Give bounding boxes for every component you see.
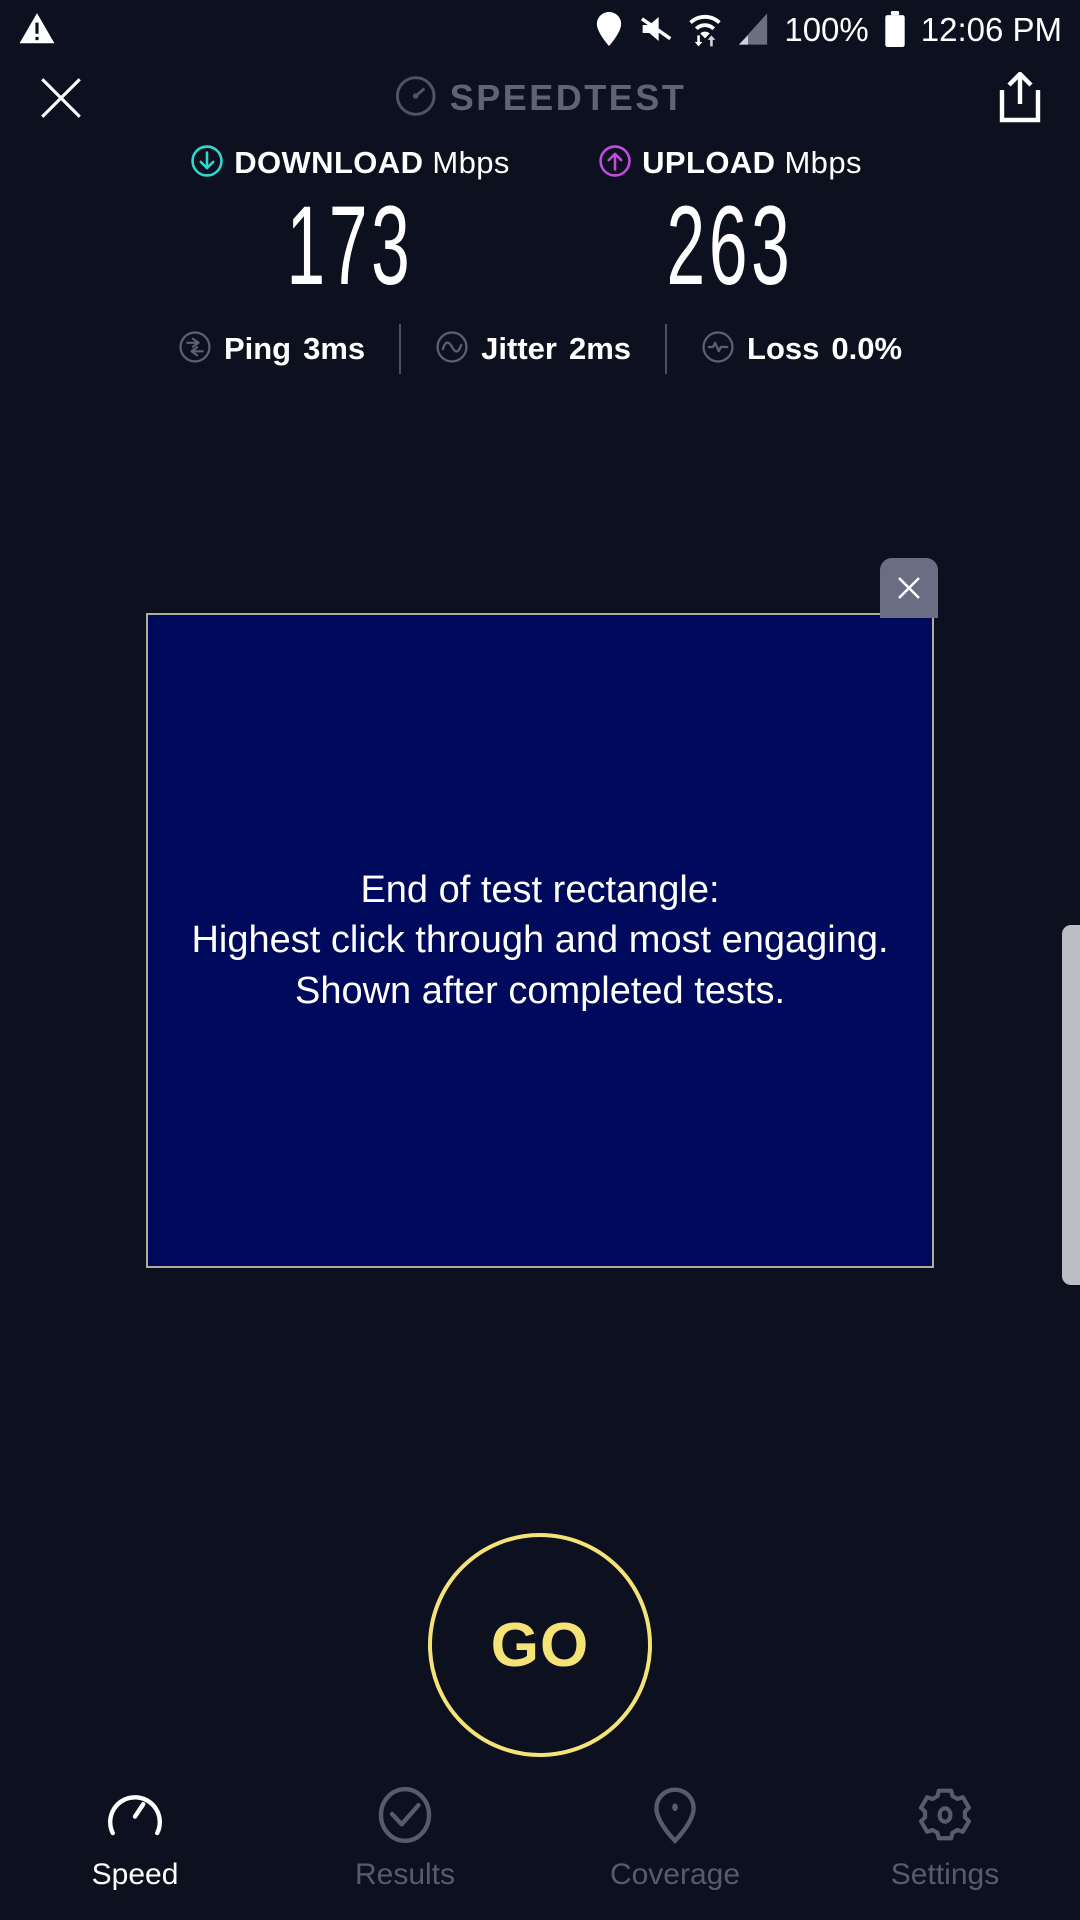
loss-value: 0.0% (831, 331, 902, 367)
app-header: SPEEDTEST (0, 58, 1080, 138)
upload-label-line: UPLOAD Mbps (540, 142, 920, 184)
status-bar-left (18, 10, 56, 48)
nav-item-results[interactable]: Results (270, 1784, 540, 1892)
ad-text: End of test rectangle: Highest click thr… (191, 865, 888, 1015)
location-pin-icon (644, 1784, 706, 1846)
gear-icon (914, 1784, 976, 1846)
upload-label: UPLOAD Mbps (642, 145, 862, 181)
share-button[interactable] (996, 72, 1044, 124)
speedtest-app-screen: 100% 12:06 PM SP (0, 0, 1080, 1920)
upload-arrow-icon (598, 144, 632, 183)
brand-title: SPEEDTEST (450, 77, 687, 119)
volume-mute-icon (638, 13, 674, 45)
speedometer-icon (104, 1784, 166, 1846)
close-icon (894, 573, 924, 603)
nav-label-settings: Settings (891, 1858, 999, 1892)
page-scrollbar[interactable] (1062, 925, 1080, 1285)
jitter-metric: Jitter 2ms (401, 330, 665, 369)
ping-icon (178, 330, 212, 369)
download-label-line: DOWNLOAD Mbps (160, 142, 540, 184)
nav-item-speed[interactable]: Speed (0, 1784, 270, 1892)
nav-label-coverage: Coverage (610, 1858, 740, 1892)
ad-banner[interactable]: End of test rectangle: Highest click thr… (146, 613, 934, 1268)
ping-value: 3ms (303, 331, 365, 367)
jitter-label: Jitter (481, 331, 557, 367)
nav-label-speed: Speed (92, 1858, 179, 1892)
loss-icon (701, 330, 735, 369)
battery-percent-label: 100% (784, 13, 868, 46)
ping-metric: Ping 3ms (144, 330, 399, 369)
bottom-navigation: Speed Results Coverage (0, 1770, 1080, 1920)
results-summary: DOWNLOAD Mbps 173 UPLOAD Mbps 263 (0, 142, 1080, 374)
ad-close-button[interactable] (880, 558, 938, 618)
speed-row: DOWNLOAD Mbps 173 UPLOAD Mbps 263 (0, 142, 1080, 302)
clock-label: 12:06 PM (921, 13, 1062, 46)
jitter-value: 2ms (569, 331, 631, 367)
nav-item-settings[interactable]: Settings (810, 1784, 1080, 1892)
battery-full-icon (883, 11, 907, 47)
ping-label: Ping (224, 331, 291, 367)
go-button[interactable]: GO (428, 1533, 652, 1757)
cellular-signal-icon (736, 13, 770, 45)
loss-label: Loss (747, 331, 819, 367)
download-value: 173 (232, 190, 468, 302)
loss-metric: Loss 0.0% (667, 330, 936, 369)
location-pin-icon (594, 12, 624, 46)
upload-result: UPLOAD Mbps 263 (540, 142, 920, 302)
nav-item-coverage[interactable]: Coverage (540, 1784, 810, 1892)
status-bar: 100% 12:06 PM (0, 0, 1080, 58)
go-button-label: GO (491, 1610, 589, 1681)
download-label: DOWNLOAD Mbps (234, 145, 510, 181)
upload-value: 263 (612, 190, 848, 302)
download-result: DOWNLOAD Mbps 173 (160, 142, 540, 302)
warning-triangle-icon (18, 10, 56, 48)
nav-label-results: Results (355, 1858, 455, 1892)
jitter-icon (435, 330, 469, 369)
download-arrow-icon (190, 144, 224, 183)
metric-row: Ping 3ms Jitter 2ms (0, 324, 1080, 374)
speedtest-gauge-icon (394, 74, 438, 123)
brand: SPEEDTEST (394, 74, 687, 123)
wifi-transfer-icon (688, 11, 722, 47)
close-button[interactable] (36, 73, 86, 123)
check-circle-icon (374, 1784, 436, 1846)
status-bar-right: 100% 12:06 PM (594, 11, 1062, 47)
